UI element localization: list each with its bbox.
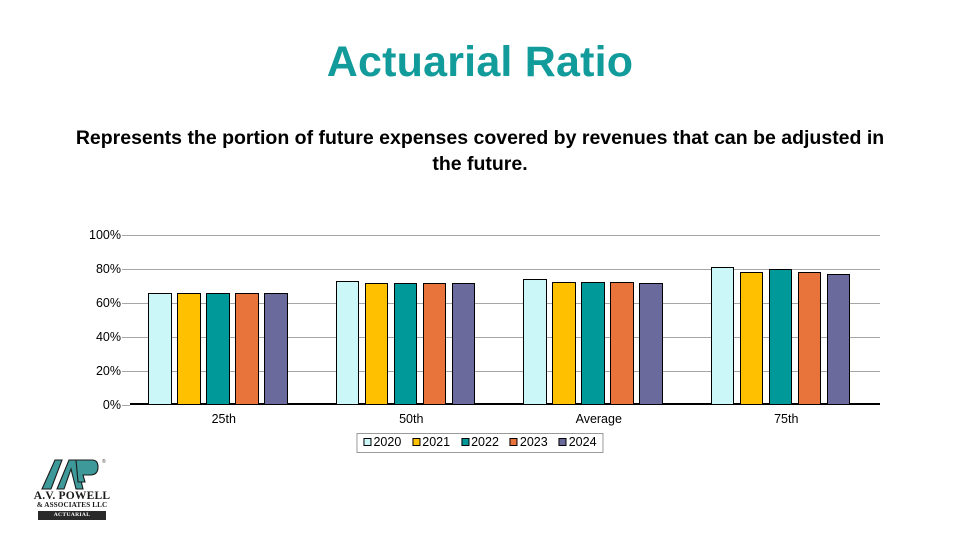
bar-2021-average (552, 282, 576, 405)
slide-canvas: Actuarial Ratio Represents the portion o… (0, 0, 960, 540)
company-logo: ® A.V. POWELL & ASSOCIATES LLC ACTUARIAL… (26, 458, 118, 522)
legend-label: 2020 (373, 436, 401, 449)
y-axis-tick-mark (122, 337, 130, 338)
slide-subtitle: Represents the portion of future expense… (60, 126, 900, 178)
x-axis-category-label: 75th (693, 412, 881, 426)
logo-company-suffix: & ASSOCIATES LLC (26, 502, 118, 509)
x-axis-category-label: 50th (318, 412, 506, 426)
registered-mark: ® (102, 459, 106, 465)
y-axis-tick-label: 100% (89, 228, 121, 242)
bar-group-50th: 50th (318, 235, 506, 405)
chart-legend: 20202021202220232024 (356, 433, 603, 453)
legend-swatch-icon (510, 438, 518, 446)
legend-label: 2022 (471, 436, 499, 449)
legend-item-2023[interactable]: 2023 (510, 436, 548, 449)
y-axis-tick-label: 60% (96, 296, 121, 310)
y-axis-tick-mark (122, 303, 130, 304)
legend-item-2022[interactable]: 2022 (461, 436, 499, 449)
bar-2020-25th (148, 293, 172, 405)
logo-tagline: ACTUARIAL INNOVATORS (38, 511, 106, 520)
bar-2024-25th (264, 293, 288, 405)
x-axis-category-label: Average (505, 412, 693, 426)
legend-swatch-icon (461, 438, 469, 446)
legend-swatch-icon (559, 438, 567, 446)
bar-2020-average (523, 279, 547, 405)
x-axis-category-label: 25th (130, 412, 318, 426)
bar-2023-75th (798, 272, 822, 405)
bar-chart: 0%20%40%60%80%100%25th50thAverage75th (0, 215, 960, 430)
bar-2024-average (639, 283, 663, 405)
legend-label: 2021 (422, 436, 450, 449)
bar-group-average: Average (505, 235, 693, 405)
bar-2022-50th (394, 283, 418, 405)
bar-group-25th: 25th (130, 235, 318, 405)
bar-2022-75th (769, 269, 793, 405)
y-axis-tick-label: 40% (96, 330, 121, 344)
bar-2021-25th (177, 293, 201, 405)
bar-2023-50th (423, 283, 447, 405)
legend-label: 2023 (520, 436, 548, 449)
bar-2022-average (581, 282, 605, 405)
bar-2022-25th (206, 293, 230, 405)
y-axis-tick-label: 80% (96, 262, 121, 276)
bar-2020-75th (711, 267, 735, 405)
bar-2020-50th (336, 281, 360, 405)
bar-2024-75th (827, 274, 851, 405)
y-axis-tick-label: 20% (96, 364, 121, 378)
y-axis-tick-mark (122, 405, 130, 406)
legend-swatch-icon (412, 438, 420, 446)
bar-2023-average (610, 282, 634, 405)
y-axis-tick-mark (122, 269, 130, 270)
avp-monogram-icon (38, 458, 100, 491)
legend-swatch-icon (363, 438, 371, 446)
chart-plot-area: 0%20%40%60%80%100%25th50thAverage75th (130, 235, 880, 405)
y-axis-tick-mark (122, 371, 130, 372)
legend-label: 2024 (569, 436, 597, 449)
legend-item-2020[interactable]: 2020 (363, 436, 401, 449)
page-title: Actuarial Ratio (0, 40, 960, 85)
bar-2021-50th (365, 283, 389, 405)
bar-2024-50th (452, 283, 476, 405)
bar-group-75th: 75th (693, 235, 881, 405)
y-axis-tick-mark (122, 235, 130, 236)
legend-item-2024[interactable]: 2024 (559, 436, 597, 449)
bar-2021-75th (740, 272, 764, 405)
bar-2023-25th (235, 293, 259, 405)
legend-item-2021[interactable]: 2021 (412, 436, 450, 449)
y-axis-tick-label: 0% (103, 398, 121, 412)
